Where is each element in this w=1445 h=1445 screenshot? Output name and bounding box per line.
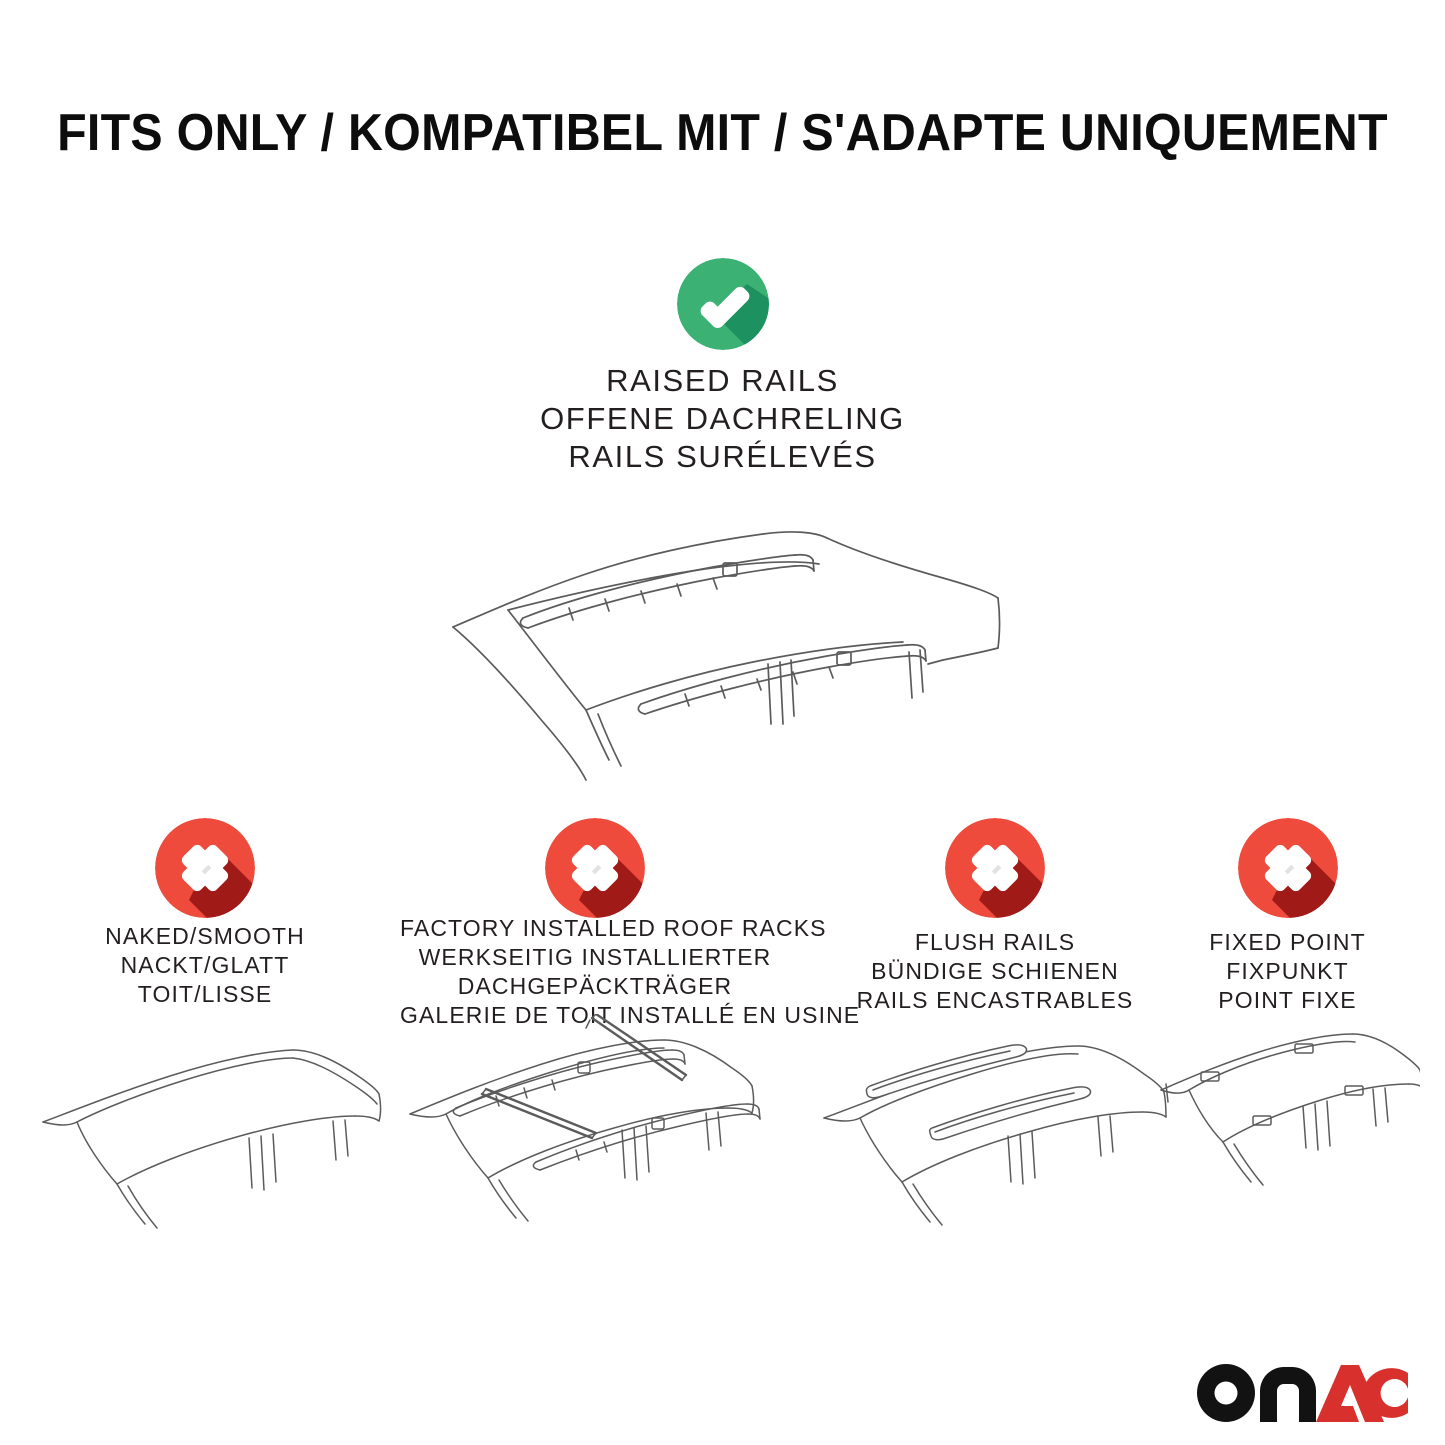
x-circle-icon: [545, 818, 645, 918]
incompatible-label-en: FLUSH RAILS: [810, 928, 1180, 957]
incompatible-label-de-2: DACHGEPÄCKTRÄGER: [400, 972, 790, 1001]
x-circle-icon: [1238, 818, 1338, 918]
car-roof-raised-rails-illustration: [423, 492, 1023, 792]
x-circle-icon: [155, 818, 255, 918]
incompatible-label-de: BÜNDIGE SCHIENEN: [810, 957, 1180, 986]
page-title-text: FITS ONLY / KOMPATIBEL MIT / S'ADAPTE UN…: [57, 104, 1388, 162]
compatible-label-fr: RAILS SURÉLEVÉS: [0, 438, 1445, 476]
incompatible-label-de: FIXPUNKT: [1155, 957, 1420, 986]
compatible-label-de: OFFENE DACHRELING: [0, 400, 1445, 438]
incompatible-label-en: FIXED POINT: [1155, 928, 1420, 957]
incompatible-label-en: NAKED/SMOOTH: [25, 922, 385, 951]
incompatible-label-fr: POINT FIXE: [1155, 986, 1420, 1015]
incompatible-label-de: NACKT/GLATT: [25, 951, 385, 980]
incompatible-label-fr: RAILS ENCASTRABLES: [810, 986, 1180, 1015]
check-circle-icon: [677, 258, 769, 350]
incompatible-label-de-1: WERKSEITIG INSTALLIERTER: [400, 943, 790, 972]
logo-letter-m: [1260, 1367, 1316, 1422]
car-roof-naked-smooth-illustration: [25, 1026, 385, 1256]
incompatible-labels: FACTORY INSTALLED ROOF RACKS WERKSEITIG …: [400, 914, 790, 1030]
incompatible-labels: FIXED POINT FIXPUNKT POINT FIXE: [1155, 928, 1420, 1015]
incompatible-label-fr: TOIT/LISSE: [25, 980, 385, 1009]
car-roof-fixed-point-illustration: [1155, 1024, 1420, 1254]
compatible-label-en: RAISED RAILS: [0, 362, 1445, 400]
car-roof-factory-roof-racks-illustration: [400, 1014, 790, 1254]
compatible-labels: RAISED RAILS OFFENE DACHRELING RAILS SUR…: [0, 362, 1445, 476]
incompatible-labels: FLUSH RAILS BÜNDIGE SCHIENEN RAILS ENCAS…: [810, 928, 1180, 1015]
incompatible-label-en: FACTORY INSTALLED ROOF RACKS: [400, 914, 790, 943]
logo-letter-o: [1197, 1364, 1255, 1422]
x-circle-icon: [945, 818, 1045, 918]
incompatible-labels: NAKED/SMOOTH NACKT/GLATT TOIT/LISSE: [25, 922, 385, 1009]
omac-logo: [1196, 1363, 1408, 1423]
car-roof-flush-rails-illustration: [810, 1024, 1180, 1254]
page-title: FITS ONLY / KOMPATIBEL MIT / S'ADAPTE UN…: [0, 104, 1445, 162]
